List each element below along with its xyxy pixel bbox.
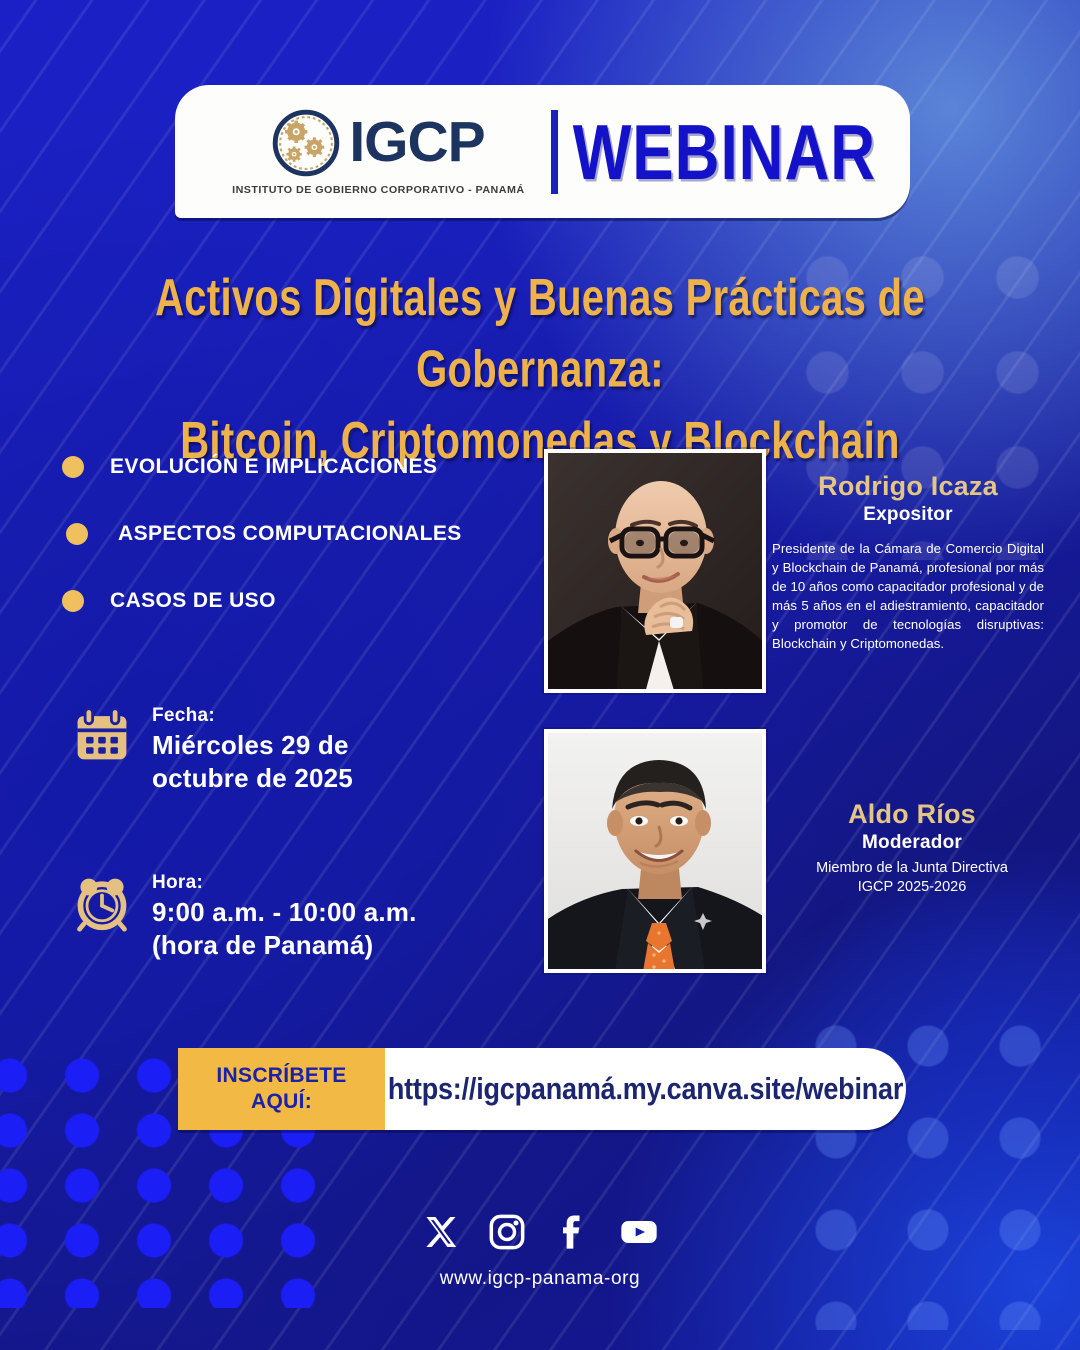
- time-label: Hora:: [152, 872, 417, 894]
- topic-label: ASPECTOS COMPUTACIONALES: [118, 522, 462, 546]
- register-cta-line-2: AQUÍ:: [251, 1089, 312, 1115]
- speaker-photo-aldo-rios: [544, 729, 766, 973]
- title-line-1: Activos Digitales y Buenas Prácticas de …: [40, 263, 1040, 406]
- speaker-name: Aldo Ríos: [782, 800, 1042, 830]
- website-url: www.igcp-panama-org: [0, 1268, 1080, 1290]
- alarm-clock-icon: [72, 872, 132, 932]
- register-url-field[interactable]: https://igcpanamá.my.canva.site/webinar: [385, 1048, 906, 1130]
- logo-wordmark: IGCP: [349, 114, 484, 171]
- register-url[interactable]: https://igcpanamá.my.canva.site/webinar: [388, 1072, 903, 1107]
- calendar-icon: [72, 705, 132, 765]
- speaker-bio-line-2: IGCP 2025-2026: [782, 878, 1042, 898]
- speaker-name: Rodrigo Icaza: [772, 472, 1044, 502]
- bullet-dot-icon: [62, 456, 84, 478]
- list-item: CASOS DE USO: [62, 589, 532, 613]
- header-divider: [551, 110, 558, 194]
- speaker-bio: Presidente de la Cámara de Comercio Digi…: [772, 539, 1044, 653]
- x-twitter-icon[interactable]: [421, 1212, 461, 1252]
- logo-subtitle: INSTITUTO DE GOBIERNO CORPORATIVO - PANA…: [232, 184, 524, 196]
- date-info-block: Fecha: Miércoles 29 de octubre de 2025: [72, 705, 353, 796]
- social-links: [0, 1212, 1080, 1252]
- gears-circle-logo-icon: [271, 108, 341, 178]
- bullet-dot-icon: [62, 590, 84, 612]
- date-label: Fecha:: [152, 705, 353, 727]
- instagram-icon[interactable]: [487, 1212, 527, 1252]
- speaker-info-2: Aldo Ríos Moderador Miembro de la Junta …: [782, 800, 1042, 898]
- register-cta-line-1: INSCRÍBETE: [216, 1063, 346, 1089]
- register-cta-label: INSCRÍBETE AQUÍ:: [178, 1048, 385, 1130]
- igcp-logo: IGCP INSTITUTO DE GOBIERNO CORPORATIVO -…: [223, 108, 533, 196]
- speaker-role: Moderador: [782, 832, 1042, 854]
- speaker-role: Expositor: [772, 504, 1044, 526]
- poster-title: Activos Digitales y Buenas Prácticas de …: [40, 263, 1040, 478]
- topic-label: EVOLUCIÓN E IMPLICACIONES: [110, 455, 437, 479]
- list-item: ASPECTOS COMPUTACIONALES: [62, 522, 532, 546]
- speaker-info-1: Rodrigo Icaza Expositor Presidente de la…: [772, 472, 1044, 653]
- facebook-icon[interactable]: [553, 1212, 593, 1252]
- speaker-bio-line-1: Miembro de la Junta Directiva: [782, 859, 1042, 879]
- list-item: EVOLUCIÓN E IMPLICACIONES: [62, 455, 532, 479]
- topics-list: EVOLUCIÓN E IMPLICACIONES ASPECTOS COMPU…: [62, 455, 532, 656]
- date-value-line-2: octubre de 2025: [152, 762, 353, 795]
- header-card: IGCP INSTITUTO DE GOBIERNO CORPORATIVO -…: [175, 85, 910, 218]
- time-info-block: Hora: 9:00 a.m. - 10:00 a.m. (hora de Pa…: [72, 872, 417, 963]
- speaker-photo-rodrigo-icaza: [544, 449, 766, 693]
- bullet-dot-icon: [66, 523, 88, 545]
- registration-bar[interactable]: INSCRÍBETE AQUÍ: https://igcpanamá.my.ca…: [178, 1048, 906, 1130]
- topic-label: CASOS DE USO: [110, 589, 276, 613]
- time-value-line-1: 9:00 a.m. - 10:00 a.m.: [152, 896, 417, 929]
- time-value-line-2: (hora de Panamá): [152, 929, 417, 962]
- youtube-icon[interactable]: [619, 1212, 659, 1252]
- date-value-line-1: Miércoles 29 de: [152, 729, 353, 762]
- webinar-badge: WEBINAR: [569, 106, 905, 196]
